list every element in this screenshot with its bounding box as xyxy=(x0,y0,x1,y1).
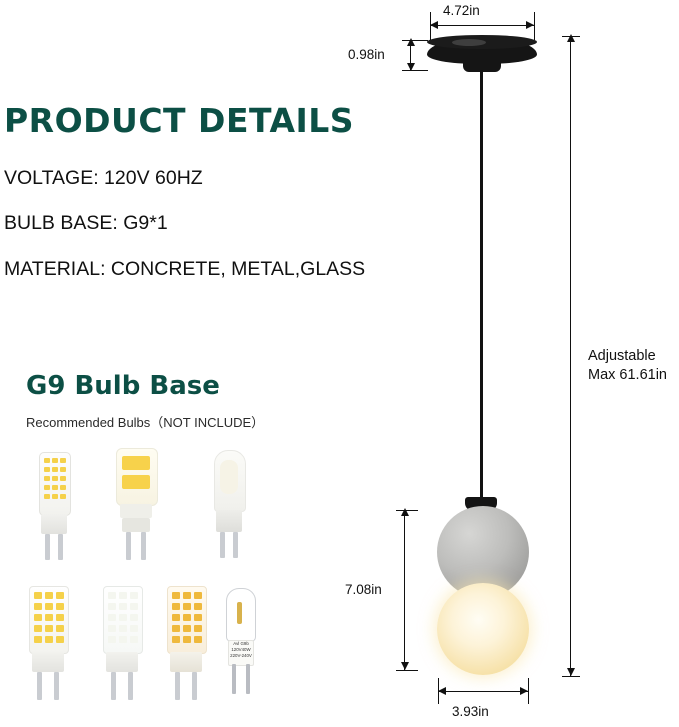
dim-shade-height-line xyxy=(404,510,405,670)
product-diagram: PRODUCT DETAILS VOLTAGE: 120V 60HZ BULB … xyxy=(0,0,679,727)
halogen-label-line3: 220V-240V xyxy=(229,653,253,658)
dim-adjustable-arrow-down xyxy=(567,668,575,676)
dim-shade-height-ext-top xyxy=(396,510,418,511)
g9-led-frosted-capsule-bulb xyxy=(206,450,252,562)
dim-canopy-width-arrow-right xyxy=(526,21,534,29)
dim-canopy-width-ext-right xyxy=(534,12,535,40)
spec-material: MATERIAL: CONCRETE, METAL,GLASS xyxy=(4,258,365,281)
dim-adjustable-label-line1: Adjustable xyxy=(588,347,667,366)
g9-halogen-bulb: Avl G9b 120V40W 220V-240V xyxy=(216,588,268,702)
dim-adjustable-ext-bottom xyxy=(562,676,580,677)
dim-shade-width-ext-right xyxy=(528,678,529,704)
dim-shade-width-arrow-right xyxy=(520,687,528,695)
dim-adjustable-label-line2: Max 61.61in xyxy=(588,366,667,385)
dim-shade-height-arrow-down xyxy=(401,662,409,670)
canopy-highlight xyxy=(452,39,486,46)
dim-shade-width-line xyxy=(438,691,528,692)
bulb-section-title: G9 Bulb Base xyxy=(26,371,220,401)
bulb-section-subtitle: Recommended Bulbs（NOT INCLUDE） xyxy=(26,412,264,431)
g9-led-ceramic-bulb xyxy=(110,448,162,562)
dim-canopy-height-label: 0.98in xyxy=(348,47,385,62)
dim-canopy-width-arrow-left xyxy=(430,21,438,29)
hanging-cord xyxy=(480,70,483,504)
halogen-label-line1: Avl G9b xyxy=(229,641,253,646)
dim-shade-height-ext-bottom xyxy=(396,670,418,671)
dim-adjustable-ext-top xyxy=(562,36,580,37)
g9-led-corn-bulb-clear xyxy=(30,452,78,562)
dim-shade-width-ext-left xyxy=(438,678,439,704)
dim-shade-width-arrow-left xyxy=(438,687,446,695)
dim-canopy-width-label: 4.72in xyxy=(443,3,480,18)
halogen-label-line2: 120V40W xyxy=(229,647,253,652)
spec-bulb-base: BULB BASE: G9*1 xyxy=(4,212,168,235)
dim-canopy-height-ext-bottom xyxy=(402,70,428,71)
dim-canopy-width-ext-left xyxy=(430,12,431,40)
dim-adjustable-line xyxy=(570,36,571,676)
dim-adjustable-label: Adjustable Max 61.61in xyxy=(588,347,667,385)
spec-voltage: VOLTAGE: 120V 60HZ xyxy=(4,167,203,190)
dim-canopy-width-line xyxy=(430,25,534,26)
g9-led-smd-bulb-warm xyxy=(160,586,214,702)
g9-led-smd-bulb-cool xyxy=(96,586,150,702)
dim-shade-width-label: 3.93in xyxy=(452,704,489,719)
dim-shade-height-label: 7.08in xyxy=(345,582,382,597)
g9-led-smd-bulb-white xyxy=(22,586,76,702)
dim-canopy-height-ext-top xyxy=(402,40,428,41)
page-title: PRODUCT DETAILS xyxy=(4,101,354,140)
glass-glowing-globe xyxy=(437,583,529,675)
